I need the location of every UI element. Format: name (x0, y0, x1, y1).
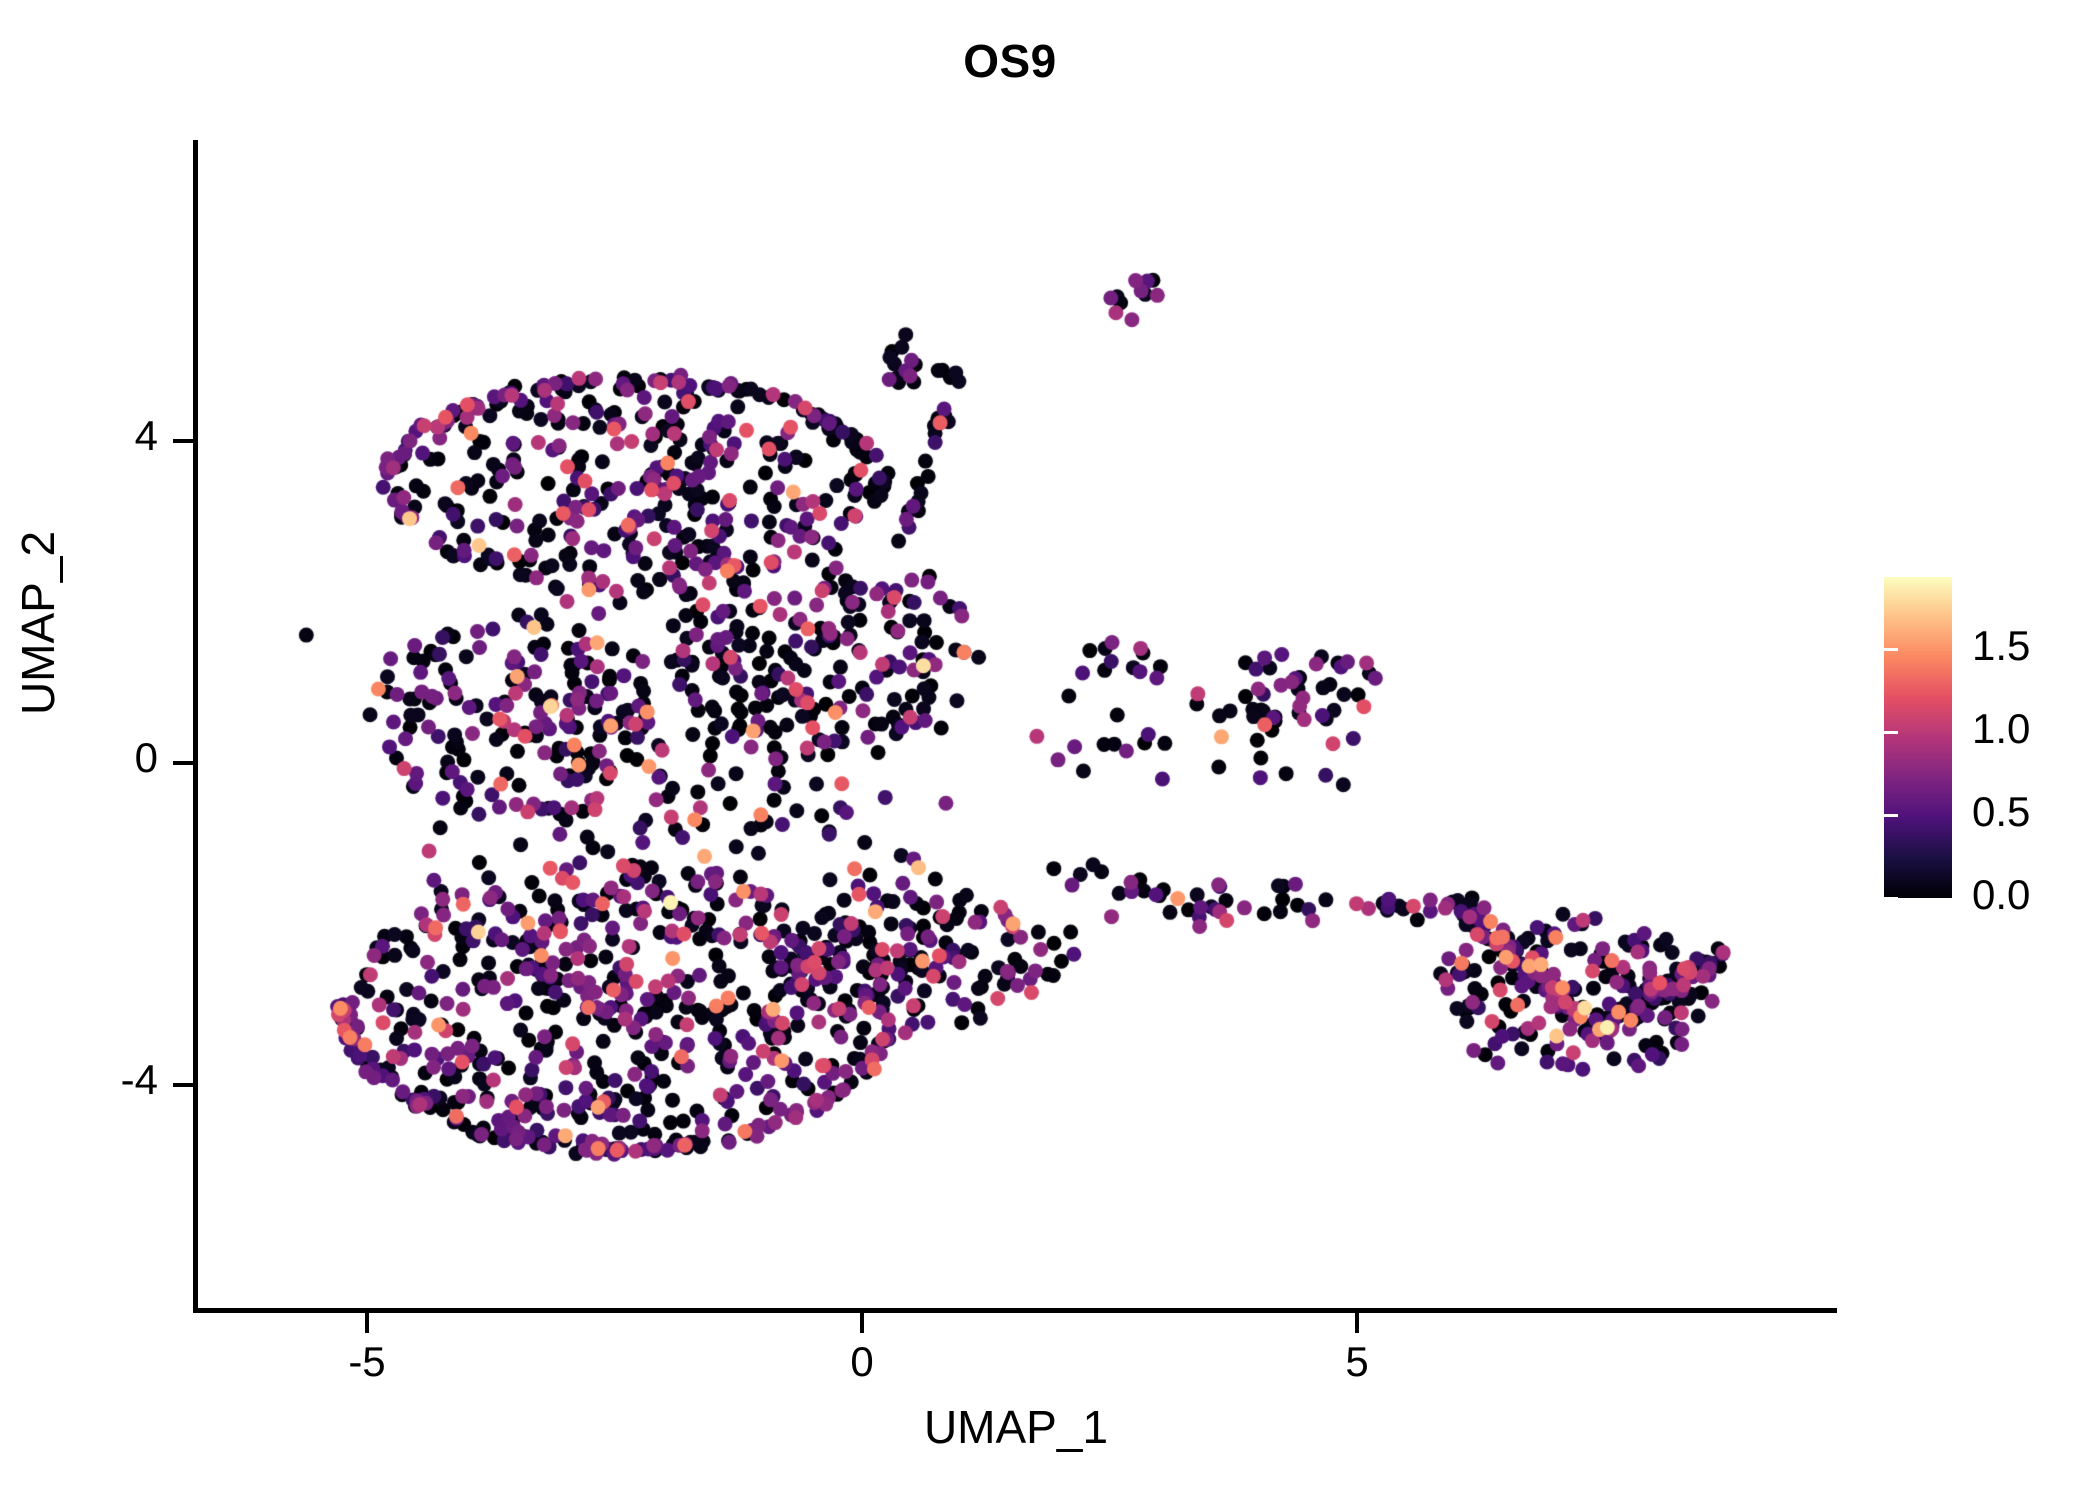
y-axis-line (193, 140, 198, 1312)
colorbar-tick-mark (1884, 814, 1898, 817)
x-tick-label: 0 (802, 1338, 922, 1386)
scatter-points-canvas (196, 140, 1836, 1310)
x-tick-mark (365, 1313, 369, 1333)
colorbar-tick-mark (1884, 731, 1898, 734)
y-axis-label-wrap: UMAP_2 (0, 588, 338, 658)
colorbar-gradient (1884, 577, 1952, 898)
colorbar-tick-label: 1.5 (1972, 622, 2030, 670)
colorbar-tick-mark (1884, 648, 1898, 651)
colorbar-tick-label: 0.5 (1972, 788, 2030, 836)
x-axis-label: UMAP_1 (196, 1400, 1836, 1454)
y-tick-label: -4 (0, 1056, 158, 1104)
colorbar-tick-mark (1870, 648, 1884, 651)
colorbar-tick-label: 0.0 (1972, 871, 2030, 919)
chart-root: OS9 -505 40-4 UMAP_1 UMAP_2 0.00.51.01.5 (0, 0, 2100, 1500)
x-axis-line (193, 1308, 1837, 1313)
y-axis-label: UMAP_2 (3, 323, 73, 923)
x-tick-label: -5 (307, 1338, 427, 1386)
scatter-plot-panel (196, 140, 1836, 1310)
colorbar-tick-mark (1870, 731, 1884, 734)
x-tick-mark (1355, 1313, 1359, 1333)
colorbar-tick-mark (1870, 897, 1884, 900)
x-tick-mark (860, 1313, 864, 1333)
page-title: OS9 (0, 34, 2020, 88)
y-tick-mark (173, 761, 193, 765)
colorbar-tick-mark (1870, 814, 1884, 817)
y-tick-mark (173, 1083, 193, 1087)
x-tick-label: 5 (1297, 1338, 1417, 1386)
colorbar-tick-label: 1.0 (1972, 705, 2030, 753)
y-tick-mark (173, 439, 193, 443)
colorbar-tick-mark (1884, 897, 1898, 900)
